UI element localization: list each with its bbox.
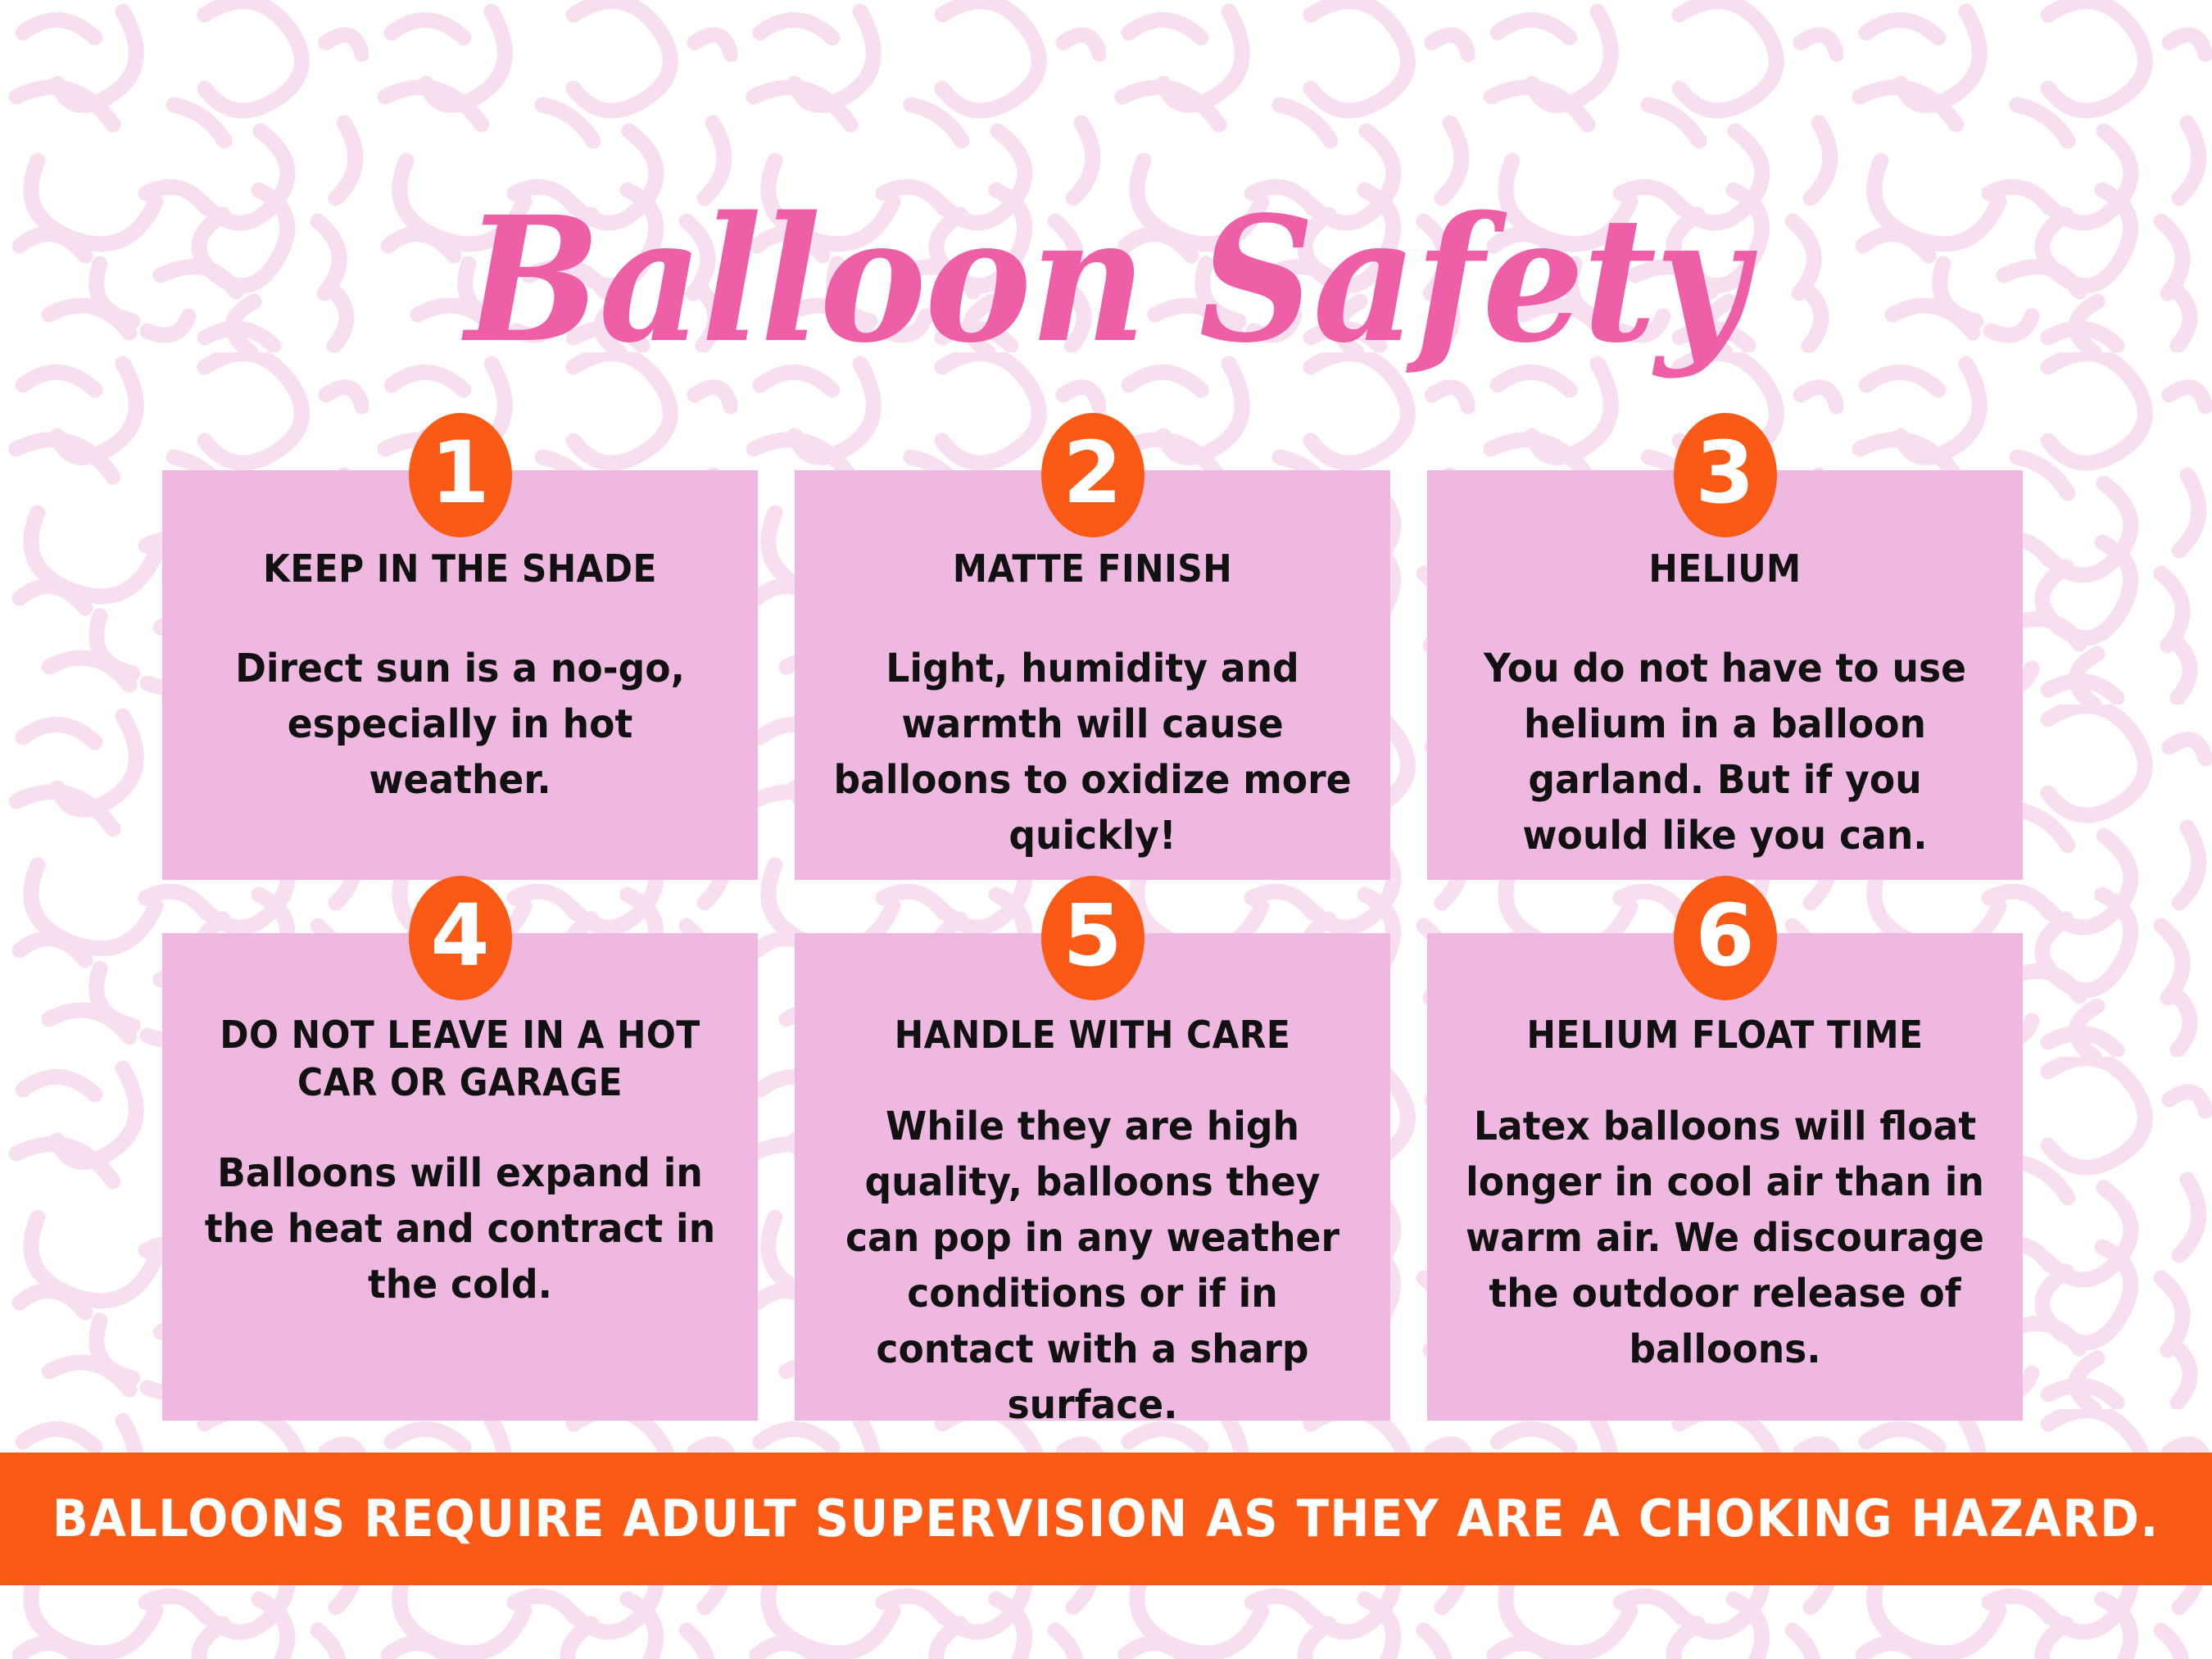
- tip-number-badge-6: 6: [1674, 876, 1777, 1000]
- title-container: Balloon Safety: [0, 79, 2212, 481]
- tip-text-2: Light, humidity and warmth will cause ba…: [833, 593, 1353, 864]
- tip-text-6: Latex balloons will float longer in cool…: [1466, 1059, 1985, 1378]
- tip-body-5: HANDLE WITH CARE While they are high qua…: [819, 933, 1366, 1433]
- tips-grid: 1 KEEP IN THE SHADE Direct sun is a no-g…: [162, 470, 2024, 1421]
- tip-number-badge-4: 4: [409, 876, 512, 1000]
- tip-card-4: 4 DO NOT LEAVE IN A HOT CAR OR GARAGE Ba…: [162, 933, 758, 1421]
- tip-text-4: Balloons will expand in the heat and con…: [201, 1106, 720, 1312]
- tip-text-5: While they are high quality, balloons th…: [833, 1059, 1353, 1434]
- footer-warning-banner: BALLOONS REQUIRE ADULT SUPERVISION AS TH…: [0, 1453, 2212, 1585]
- tip-card-2: 2 MATTE FINISH Light, humidity and warmt…: [795, 470, 1390, 880]
- tip-text-1: Direct sun is a no-go, especially in hot…: [201, 593, 720, 808]
- tip-card-1: 1 KEEP IN THE SHADE Direct sun is a no-g…: [162, 470, 758, 880]
- balloon-safety-poster: Balloon Safety 1 KEEP IN THE SHADE Direc…: [0, 0, 2212, 1659]
- tip-text-3: You do not have to use helium in a ballo…: [1466, 593, 1985, 864]
- footer-warning-text: BALLOONS REQUIRE ADULT SUPERVISION AS TH…: [52, 1494, 2160, 1544]
- page-title: Balloon Safety: [465, 194, 1747, 366]
- tip-card-5: 5 HANDLE WITH CARE While they are high q…: [795, 933, 1390, 1421]
- tip-card-6: 6 HELIUM FLOAT TIME Latex balloons will …: [1427, 933, 2023, 1421]
- tip-card-3: 3 HELIUM You do not have to use helium i…: [1427, 470, 2023, 880]
- tip-number-badge-5: 5: [1041, 876, 1145, 1000]
